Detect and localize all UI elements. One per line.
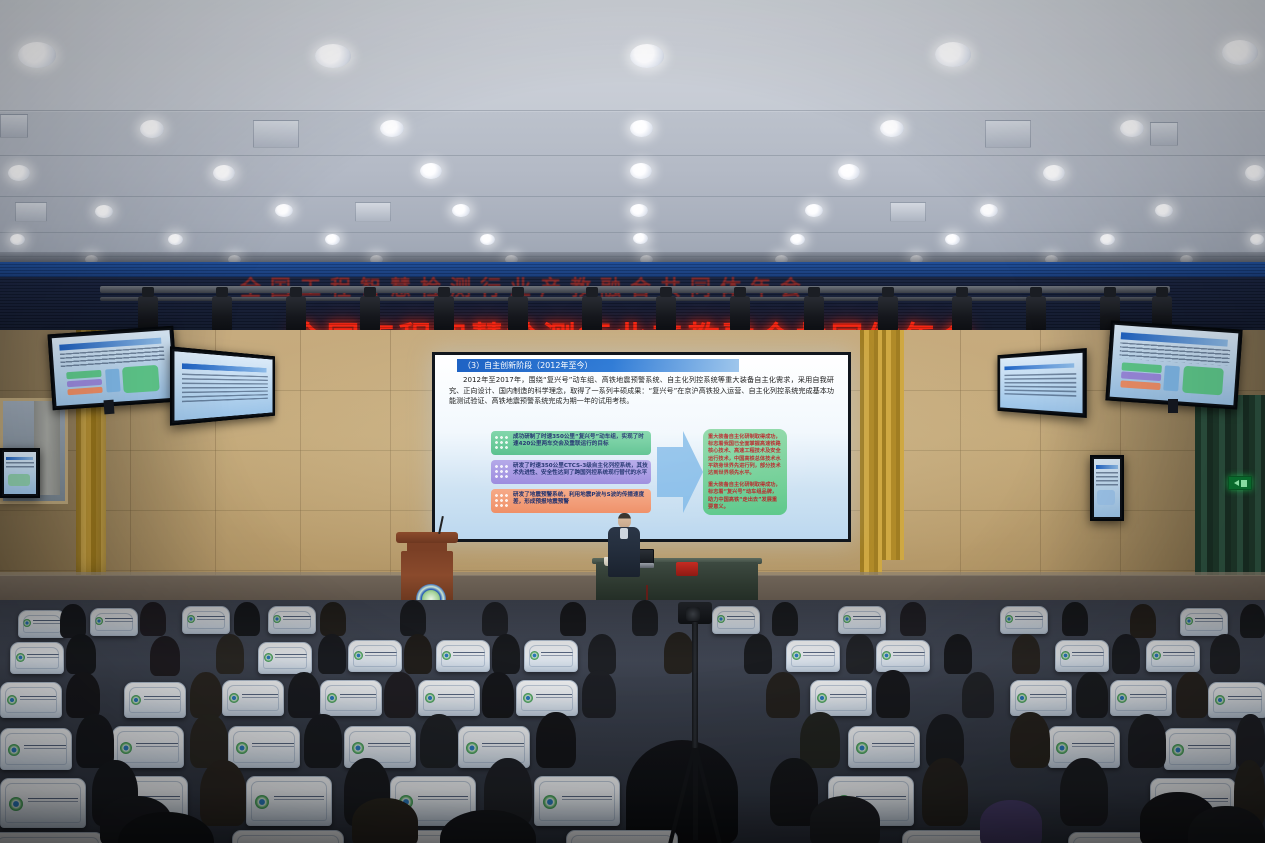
audience-person [744, 634, 772, 674]
seat-logo-icon [120, 742, 132, 754]
audience-person [404, 634, 432, 674]
wall-display-right-low-content [1094, 459, 1120, 517]
audience-person [1240, 604, 1265, 638]
seat-logo-icon [23, 619, 31, 627]
slide-box-green: 成功研制了时速350公里“复兴号”动车组，实现了时速420公里两车交会及重联运行… [491, 431, 651, 455]
seat-logo-text [1163, 652, 1195, 660]
side-monitor-right-small [997, 348, 1086, 418]
audience-person [384, 672, 416, 718]
side-monitor-right-small-titlebar [1004, 363, 1074, 371]
side-monitor-right-small-text [1004, 373, 1076, 399]
ceiling-downlight [633, 233, 648, 244]
wall-display-text [1096, 472, 1119, 486]
seat-logo-text [438, 694, 474, 703]
seat-logo-icon [425, 693, 435, 703]
seat-logo-icon [1061, 651, 1070, 660]
stage-light [1026, 296, 1046, 334]
speaker-person [607, 513, 641, 577]
seat-logo-text [28, 798, 78, 811]
ceiling-downlight [790, 234, 805, 245]
ceiling-downlight [325, 234, 340, 245]
seat-logo-text [541, 652, 573, 660]
seat-logo-text [252, 743, 294, 754]
audience-person [1112, 634, 1140, 674]
ceiling-vent [355, 202, 391, 222]
seat-logo-icon [843, 615, 851, 623]
seat [786, 640, 840, 672]
audience-person [1130, 604, 1156, 638]
ceiling-downlight [1250, 234, 1264, 245]
seat [418, 680, 480, 716]
slide-box-purple: 研发了时速350公里CTCS-3级自主化列控系统，其技术先进性、安全性达到了跨国… [491, 460, 651, 484]
seat-logo-text [1030, 694, 1066, 703]
ceiling-downlight [935, 42, 971, 67]
seat-logo-icon [229, 693, 239, 703]
wall-display-text [6, 462, 34, 470]
audience-person [66, 634, 96, 674]
seat-logo-text [27, 654, 59, 662]
podium-neck [407, 543, 447, 551]
seat-logo-text [1228, 696, 1262, 705]
seat-logo-text [727, 616, 755, 623]
seat-logo-icon [523, 693, 533, 703]
seat [876, 640, 930, 672]
ceiling-downlight [980, 204, 998, 217]
presentation-slide: （3）自主创新阶段（2012年至今） 2012年至2017年，围绕“复兴号”动车… [435, 355, 848, 539]
seat [1164, 728, 1236, 770]
seat-logo-text [1015, 616, 1043, 623]
audience-person [150, 636, 180, 676]
seat [1055, 640, 1109, 672]
seat-logo-icon [1117, 693, 1127, 703]
seat-logo-text [368, 743, 410, 754]
seat-logo-text [536, 694, 572, 703]
ceiling-downlight [420, 163, 442, 179]
seat [810, 680, 872, 716]
seat [524, 640, 578, 672]
dots-icon [494, 464, 510, 480]
seat-logo-text [33, 620, 61, 627]
seat-logo-text [197, 616, 225, 623]
audience-person [304, 714, 342, 768]
audience-person [582, 670, 616, 718]
seat [182, 606, 230, 634]
seat-logo-icon [131, 695, 141, 705]
seat-logo-icon [327, 693, 337, 703]
ceiling-vent [253, 120, 299, 148]
lighting-truss-lower [100, 297, 1170, 301]
seat-logo-text [853, 616, 881, 623]
audience-person [318, 634, 346, 674]
seat [1010, 680, 1072, 716]
audience-person [536, 712, 576, 768]
ceiling-downlight [945, 234, 960, 245]
stage-light [212, 296, 232, 334]
audience-person [200, 760, 246, 826]
seat-logo-icon [882, 651, 891, 660]
audience-person [288, 672, 320, 718]
seat [228, 726, 300, 768]
audience-person [1176, 672, 1208, 718]
seat-logo-text [893, 652, 925, 660]
exit-arrow-icon [1234, 480, 1239, 486]
audience-person [1076, 672, 1108, 718]
ceiling [0, 0, 1265, 272]
stage-light [804, 296, 824, 334]
slide-body-text: 2012年至2017年，围绕“复兴号”动车组、高铁地震预警系统、自主化列控系统等… [449, 375, 834, 407]
seat-logo-icon [1172, 744, 1184, 756]
side-monitor-right [1105, 320, 1242, 409]
stage-light [730, 296, 750, 334]
ceiling-downlight [1120, 120, 1144, 137]
seat-logo-icon [264, 653, 273, 662]
audience-person [664, 632, 694, 674]
seat-logo-text [830, 694, 866, 703]
seat [436, 640, 490, 672]
seat-logo-text [24, 745, 66, 756]
ceiling-downlight [275, 204, 293, 217]
seat-logo-text [418, 796, 468, 809]
slide-title-bar: （3）自主创新阶段（2012年至今） [457, 359, 739, 372]
audience-person [1010, 712, 1050, 768]
audience-person [588, 634, 616, 674]
slide-bullet-boxes: 成功研制了时速350公里“复兴号”动车组，实现了时速420公里两车交会及重联运行… [491, 431, 651, 518]
side-monitor-left-small-titlebar [182, 363, 266, 373]
audience-seating-area [0, 600, 1265, 843]
audience-person [1128, 714, 1166, 768]
slide-box-green-text: 成功研制了时速350公里“复兴号”动车组，实现了时速420公里两车交会及重联运行… [513, 434, 644, 447]
seat-logo-text [1195, 618, 1223, 625]
seat-logo-text [872, 743, 914, 754]
seat-logo-text [340, 694, 376, 703]
ceiling-downlight [880, 120, 904, 137]
ceiling-downlight [140, 120, 164, 138]
monitor-box-result [1182, 366, 1223, 396]
seat-logo-icon [543, 795, 557, 809]
seat-logo-icon [530, 651, 539, 660]
seat [838, 606, 886, 634]
side-monitor-left-small-text [182, 374, 268, 405]
ceiling-downlight [315, 44, 351, 68]
seat-logo-icon [255, 795, 269, 809]
slide-result-box: 重大装备自主化研制取得成功，标志着我国已全面掌握高速铁路核心技术、高速工程技术及… [703, 429, 787, 515]
ceiling-downlight [18, 42, 56, 68]
ceiling-downlight [630, 120, 653, 137]
seat-logo-icon [1056, 742, 1068, 754]
dots-icon [494, 493, 510, 509]
seat-logo-icon [717, 615, 725, 623]
ceiling-vent [1150, 122, 1178, 146]
audience-person [560, 602, 586, 636]
seat-logo-text [365, 652, 397, 660]
audience-person [1210, 634, 1240, 674]
seat [90, 608, 138, 636]
seat [566, 830, 678, 843]
audience-person [766, 672, 800, 718]
stage-light [434, 296, 454, 334]
seat [348, 640, 402, 672]
seat-logo-icon [817, 693, 827, 703]
slide-result-text-1: 重大装备自主化研制取得成功，标志着我国已全面掌握高速铁路核心技术、高速工程技术及… [708, 434, 782, 477]
ceiling-downlight [1155, 204, 1173, 217]
seat-logo-icon [9, 797, 23, 811]
monitor-box-green [66, 370, 102, 379]
seat-logo-text [242, 694, 278, 703]
side-monitor-left-stand [104, 400, 115, 415]
side-monitor-right-small-content [1000, 353, 1082, 413]
ceiling-downlight [630, 44, 664, 68]
slide-box-purple-text: 研发了时速350公里CTCS-3级自主化列控系统，其技术先进性、安全性达到了跨国… [513, 463, 648, 476]
slide-result-text-2: 重大装备自主化研制取得成功，标志着“复兴号”动车组品牌，助力中国高铁“走出去”发… [708, 482, 782, 511]
wall-display-left-low [0, 448, 40, 498]
wall-display-left-low-content [4, 452, 36, 494]
seat-logo-text [105, 618, 133, 625]
audience-person [60, 604, 86, 638]
ceiling-downlight [1100, 234, 1115, 245]
seat [848, 726, 920, 768]
monitor-arrow [1164, 366, 1181, 391]
monitor-box-orange [67, 386, 103, 395]
ceiling-vent [985, 120, 1031, 148]
audience-person [216, 634, 244, 674]
audience-person [632, 600, 658, 636]
seat-logo-icon [1005, 615, 1013, 623]
speaker-shirt [620, 528, 628, 539]
audience-person [800, 712, 840, 768]
ceiling-downlight [480, 234, 495, 245]
audience-person [810, 796, 880, 843]
seat [1110, 680, 1172, 716]
side-monitor-left-small-content [174, 351, 272, 420]
seat-logo-text [283, 616, 311, 623]
monitor-box-orange [1120, 380, 1160, 390]
camera-lens-icon [686, 607, 700, 621]
seat-logo-text [274, 796, 324, 809]
speaker-head [618, 513, 631, 528]
tripod-center-pole [692, 622, 698, 750]
seat-logo-icon [442, 651, 451, 660]
seat [320, 680, 382, 716]
exit-person-icon [1241, 480, 1247, 487]
stage-light [360, 296, 380, 334]
seat-logo-icon [1152, 651, 1161, 660]
audience-person [876, 670, 910, 718]
red-box-object [676, 562, 698, 576]
conference-hall-photo: 全国工程智慧检测行业产教融合共同体年会 全国工程智慧检测行业产教融合共同体年会 [0, 0, 1265, 843]
audience-person [492, 634, 520, 674]
seat-logo-icon [95, 617, 103, 625]
audience-person [772, 602, 798, 636]
audience-person [420, 714, 458, 768]
seat-logo-text [20, 696, 56, 705]
seat-logo-text [482, 743, 524, 754]
seat-logo-text [136, 743, 178, 754]
stage-curtain-right-long [860, 330, 882, 585]
audience-person [320, 602, 346, 636]
seat [124, 682, 186, 718]
audience-person [944, 634, 972, 674]
ceiling-downlight [452, 204, 470, 217]
seat [232, 830, 344, 843]
seat-logo-icon [187, 615, 195, 623]
seat-logo-text [562, 796, 612, 809]
seat [712, 606, 760, 634]
wall-display-box [1097, 490, 1115, 505]
seat [18, 610, 66, 638]
seat [222, 680, 284, 716]
audience-person [352, 798, 418, 843]
seat [0, 778, 86, 828]
ceiling-vent [890, 202, 926, 222]
audience-person [846, 634, 874, 674]
seat [0, 682, 62, 718]
ceiling-downlight [630, 204, 648, 217]
ceiling-downlight [10, 234, 25, 245]
seat-logo-icon [7, 695, 17, 705]
seat-logo-text [803, 652, 835, 660]
audience-person [190, 672, 222, 718]
seat [246, 776, 332, 826]
seat-logo-icon [1215, 695, 1225, 705]
ceiling-downlight [805, 204, 823, 217]
wall-display-titlebar [6, 457, 34, 460]
audience-person [980, 800, 1042, 843]
audience-person [962, 672, 994, 718]
ceiling-vent [15, 202, 47, 222]
dots-icon [494, 435, 510, 451]
stage-light [508, 296, 528, 334]
ceiling-downlight [8, 165, 30, 181]
slide-box-orange-text: 研发了地震预警系统，利用地震P波与S波的传播速度差，形成预报地震预警 [513, 492, 644, 505]
audience-person [1012, 634, 1040, 674]
podium-top [396, 532, 458, 543]
ceiling-downlight [380, 120, 404, 137]
seat-logo-text [1072, 743, 1114, 754]
wall-display-right-low [1090, 455, 1124, 521]
stage-light [878, 296, 898, 334]
seat-logo-icon [352, 742, 364, 754]
seat-logo-text [144, 696, 180, 705]
seat [0, 832, 104, 843]
seat [258, 642, 312, 674]
slide-box-orange: 研发了地震预警系统，利用地震P波与S波的传播速度差，形成预报地震预警 [491, 489, 651, 513]
seat-logo-text [453, 652, 485, 660]
lighting-truss [100, 286, 1170, 293]
seat-logo-icon [792, 651, 801, 660]
seat-logo-icon [466, 742, 478, 754]
arrow-right-icon [657, 429, 703, 515]
seat-logo-text [1130, 694, 1166, 703]
monitor-arrow [105, 369, 121, 393]
seat [0, 728, 72, 770]
ceiling-downlight [630, 163, 652, 179]
ceiling-downlight [1222, 40, 1258, 65]
stage-light [286, 296, 306, 334]
audience-person [482, 672, 514, 718]
seat-logo-icon [354, 651, 363, 660]
seat-logo-icon [8, 744, 20, 756]
audience-person [900, 602, 926, 636]
seat [268, 606, 316, 634]
side-monitor-right-text [1120, 343, 1230, 366]
slide-title: （3）自主创新阶段（2012年至今） [457, 359, 739, 372]
audience-person [1062, 602, 1088, 636]
side-monitor-right-content [1110, 325, 1239, 405]
audience-person [922, 758, 968, 826]
audience-person [140, 602, 166, 636]
seat-logo-icon [1017, 693, 1027, 703]
seat [534, 776, 620, 826]
seat-logo-text [1188, 745, 1230, 756]
seat-logo-icon [273, 615, 281, 623]
ceiling-downlight [1245, 165, 1265, 181]
main-projection-screen: （3）自主创新阶段（2012年至今） 2012年至2017年，围绕“复兴号”动车… [432, 352, 851, 542]
seat [1208, 682, 1265, 718]
seat-logo-icon [16, 653, 25, 662]
ceiling-downlight [213, 165, 235, 181]
audience-person [1060, 758, 1108, 826]
seat [1180, 608, 1228, 636]
seat-logo-icon [236, 742, 248, 754]
audience-person [234, 602, 260, 636]
seat [10, 642, 64, 674]
side-monitor-right-stand [1168, 399, 1178, 413]
ceiling-downlight [838, 164, 860, 180]
monitor-box-result [122, 365, 159, 393]
audience-person [66, 672, 100, 718]
exit-sign [1228, 476, 1252, 490]
seat [1146, 640, 1200, 672]
stage-light [656, 296, 676, 334]
side-monitor-left-small [170, 346, 275, 425]
ceiling-downlight [95, 205, 113, 218]
side-monitor-left [48, 326, 179, 411]
wall-display-box [8, 474, 30, 486]
seat-logo-icon [856, 742, 868, 754]
stage-curtain-right-long2 [882, 330, 904, 560]
stage-light [582, 296, 602, 334]
ceiling-vent [0, 114, 28, 138]
audience-person [482, 602, 508, 636]
seat [516, 680, 578, 716]
ceiling-downlight [168, 234, 183, 245]
seat-logo-text [1072, 652, 1104, 660]
audience-person [400, 600, 426, 636]
seat-logo-icon [1185, 617, 1193, 625]
ceiling-downlight [1043, 165, 1065, 181]
tripod-leg [693, 748, 698, 840]
seat-logo-text [275, 654, 307, 662]
seat [1000, 606, 1048, 634]
stage-light [952, 296, 972, 334]
side-monitor-left-content [52, 330, 174, 406]
wall-display-titlebar [1096, 465, 1118, 469]
